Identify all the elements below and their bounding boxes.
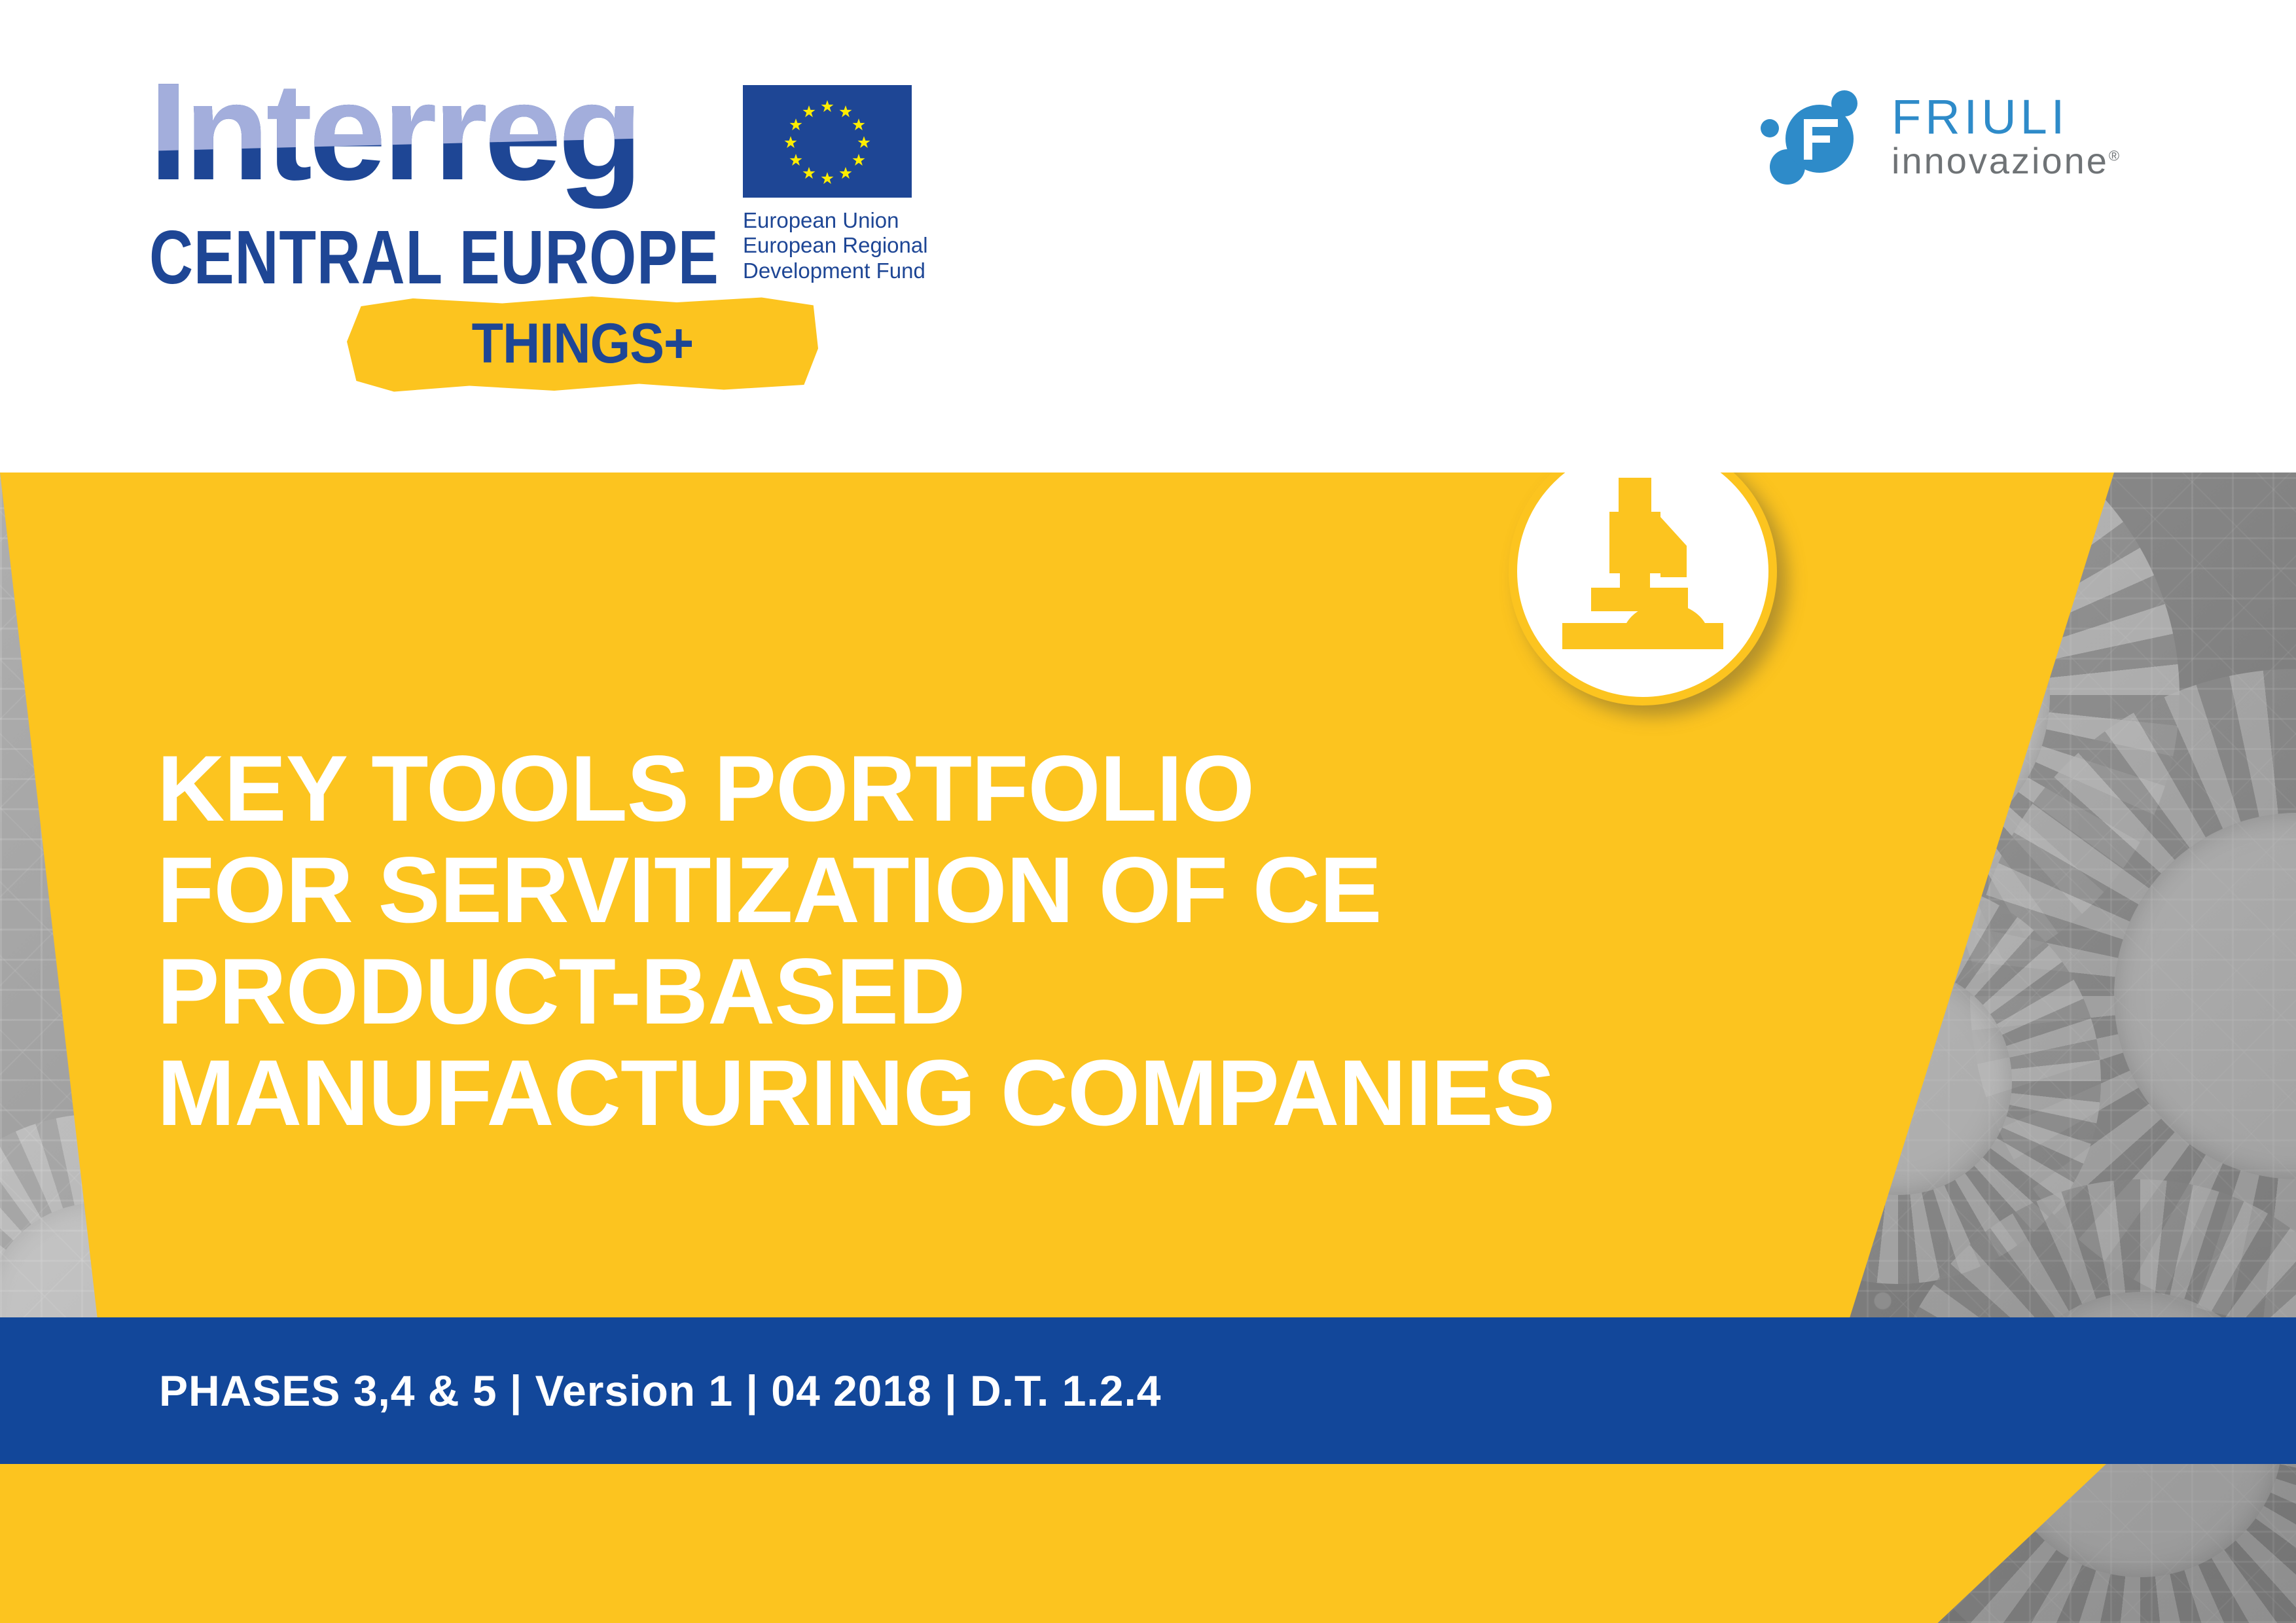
- yellow-bottom-panel: [0, 1464, 2106, 1623]
- title-line-4: MANUFACTURING COMPANIES: [157, 1043, 1554, 1144]
- microscope-badge: [1509, 437, 1777, 705]
- page-title: KEY TOOLS PORTFOLIO FOR SERVITIZATION OF…: [157, 738, 1554, 1145]
- programme-name: CENTRAL EUROPE: [149, 213, 719, 301]
- eu-caption: European Union European Regional Develop…: [743, 208, 952, 283]
- eu-caption-line-3: Development Fund: [743, 259, 952, 283]
- eu-emblem: European Union European Regional Develop…: [743, 85, 952, 283]
- friuli-tagline-text: innovazione: [1892, 140, 2109, 181]
- eu-caption-line-1: European Union: [743, 208, 952, 233]
- footer-meta-line: PHASES 3,4 & 5 | Version 1 | 04 2018 | D…: [159, 1366, 1162, 1416]
- friuli-dot-icon: [1761, 119, 1779, 137]
- title-line-2: FOR SERVITIZATION OF CE: [157, 840, 1554, 941]
- title-line-1: KEY TOOLS PORTFOLIO: [157, 738, 1554, 840]
- trademark-symbol: ®: [2109, 148, 2121, 164]
- friuli-wordmark: FRIULI innovazione®: [1892, 94, 2121, 179]
- footer-bar: PHASES 3,4 & 5 | Version 1 | 04 2018 | D…: [0, 1317, 2296, 1464]
- microscope-icon: [1562, 478, 1723, 649]
- friuli-tagline: innovazione®: [1892, 143, 2121, 179]
- eu-flag-icon: [743, 85, 912, 198]
- friuli-name: FRIULI: [1892, 94, 2121, 140]
- friuli-innovazione-logo: FRIULI innovazione®: [1761, 85, 2153, 183]
- friuli-main-circle: [1785, 105, 1854, 173]
- title-line-3: PRODUCT-BASED: [157, 941, 1554, 1043]
- friuli-f-circle-icon: [1761, 90, 1885, 182]
- letter-f-glyph: [1804, 119, 1838, 160]
- eu-caption-line-2: European Regional: [743, 233, 952, 258]
- things-plus-badge: THINGS+: [347, 294, 818, 393]
- header: Interreg Interreg CENTRAL EUROPE THINGS+: [0, 0, 2296, 473]
- things-plus-label: THINGS+: [366, 294, 799, 393]
- eu-stars: [743, 85, 912, 198]
